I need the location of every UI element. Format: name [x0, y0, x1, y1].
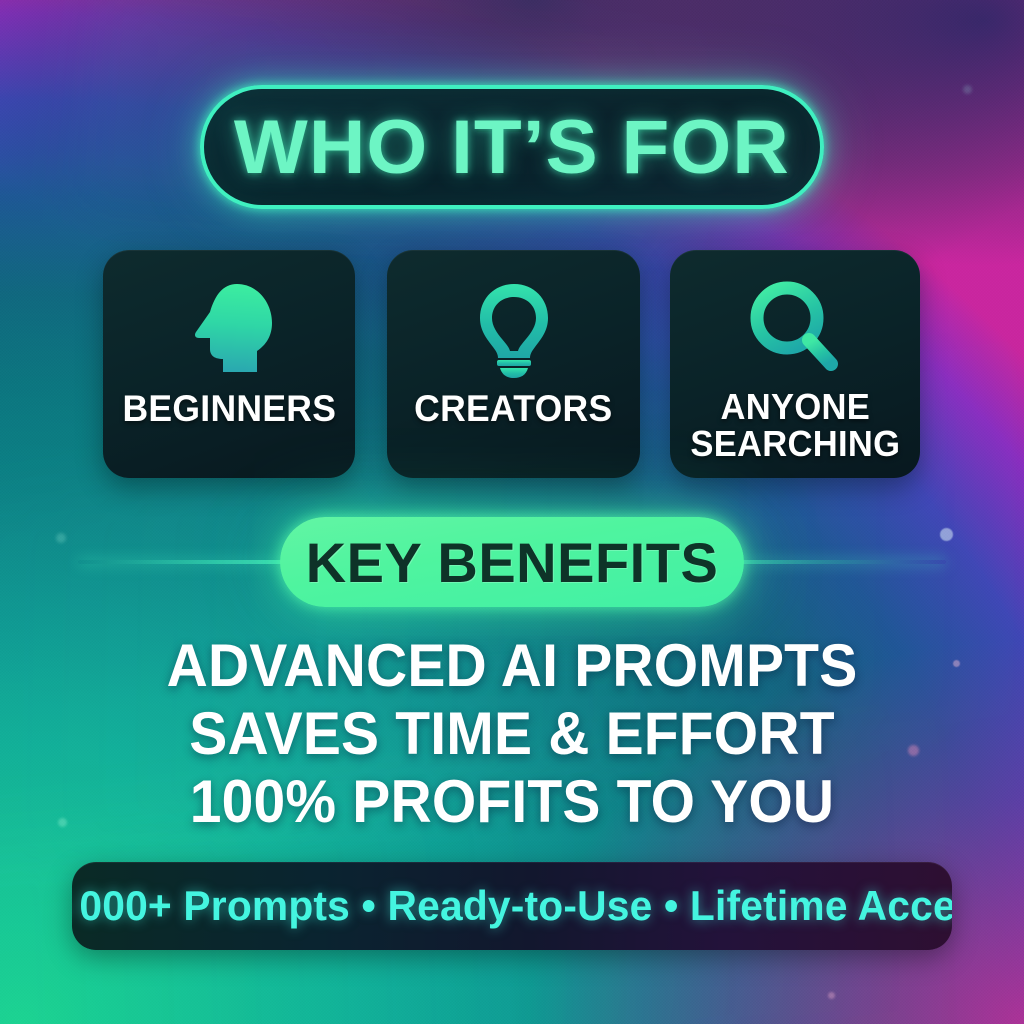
- page-title: WHO IT’S FOR: [234, 104, 790, 191]
- footer-feature-text: 15 000+ Prompts • Ready-to-Use • Lifetim…: [72, 882, 952, 930]
- benefit-list: ADVANCED AI PROMPTS SAVES TIME & EFFORT …: [0, 632, 1024, 836]
- audience-card-creators[interactable]: CREATORS: [387, 250, 640, 478]
- key-benefits-label: KEY BENEFITS: [306, 530, 719, 595]
- magnifier-icon: [743, 276, 847, 380]
- audience-card-beginners[interactable]: BEGINNERS: [103, 250, 355, 478]
- audience-card-label: BEGINNERS: [116, 390, 341, 428]
- lightbulb-icon: [462, 276, 566, 380]
- benefit-line: 100% PROFITS TO YOU: [26, 768, 999, 836]
- head-profile-icon: [177, 276, 281, 380]
- key-benefits-pill: KEY BENEFITS: [280, 517, 744, 607]
- who-its-for-header-pill: WHO IT’S FOR: [200, 85, 824, 209]
- audience-card-label: ANYONESEARCHING: [684, 388, 905, 462]
- footer-feature-bar: 15 000+ Prompts • Ready-to-Use • Lifetim…: [72, 862, 952, 950]
- benefit-line: ADVANCED AI PROMPTS: [26, 632, 999, 700]
- promo-poster: WHO IT’S FOR BEGINNERS: [0, 0, 1024, 1024]
- audience-card-label: CREATORS: [409, 390, 619, 428]
- audience-card-anyone-searching[interactable]: ANYONESEARCHING: [670, 250, 920, 478]
- benefit-line: SAVES TIME & EFFORT: [26, 700, 999, 768]
